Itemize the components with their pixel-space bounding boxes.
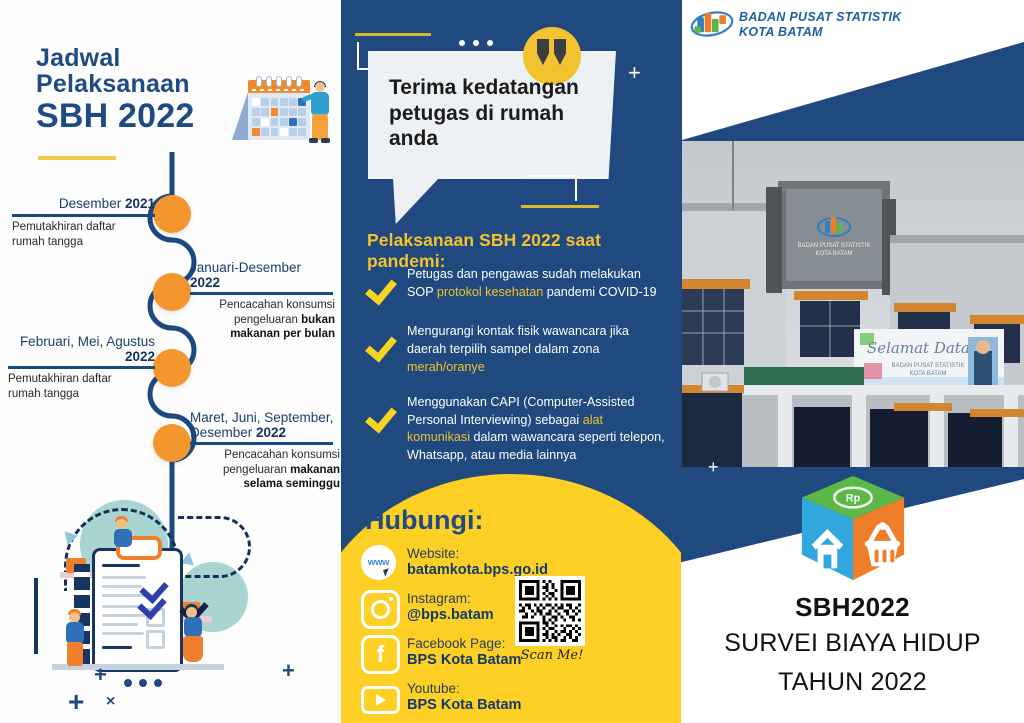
timeline-desc: Pemutakhiran daftar rumah tangga (8, 372, 155, 401)
timeline-rule (190, 292, 333, 295)
timeline-item-3: Februari, Mei, Agustus2022 Pemutakhiran … (8, 334, 155, 401)
svg-text:Rp: Rp (846, 493, 861, 505)
timeline-date: Februari, Mei, Agustus2022 (8, 334, 155, 364)
timeline-date-plain: Januari-Desember (190, 260, 301, 275)
timeline-rule (12, 214, 155, 217)
timeline-date-plain: Februari, Mei, Agustus (20, 334, 155, 349)
svg-text:BADAN PUSAT STATISTIK: BADAN PUSAT STATISTIK (798, 243, 871, 249)
contact-label: Youtube: (407, 681, 521, 697)
timeline-date-plain: Desember (59, 196, 125, 211)
qr-code-icon[interactable] (515, 576, 585, 646)
timeline-marker (153, 424, 191, 462)
timeline-marker (153, 273, 191, 311)
svg-text:KOTA BATAM: KOTA BATAM (815, 251, 852, 257)
contact-title: Hubungi: (365, 505, 483, 536)
timeline-date-year: 2021 (125, 196, 155, 211)
right-panel: BADAN PUSAT STATISTIK KOTA BATAM (681, 0, 1024, 723)
decorative-bar (34, 578, 38, 654)
contact-value: @bps.batam (407, 607, 494, 624)
calendar-icon (232, 68, 332, 148)
contact-label: Facebook Page: (407, 636, 521, 652)
timeline-date: Maret, Juni, September,Desember 2022 (190, 410, 340, 440)
calendar-person (308, 82, 334, 144)
bps-kota-batam-building-photo: BADAN PUSAT STATISTIK KOTA BATAM (682, 141, 1024, 467)
www-icon: www (361, 545, 396, 580)
paper-plane-icon (65, 529, 80, 545)
org-line-2: KOTA BATAM (739, 25, 902, 40)
contact-item-youtube[interactable]: Youtube: BPS Kota Batam (361, 680, 521, 715)
qr-caption: Scan Me! (519, 648, 585, 663)
calendar-ring (276, 76, 282, 87)
decorative-cross: × (106, 694, 115, 710)
timeline-marker (153, 195, 191, 233)
timeline-desc: Pencacahan konsumsi pengeluaran makanan … (190, 448, 340, 492)
title-line-3: SBH 2022 (36, 99, 194, 134)
decorative-plus: + (708, 458, 719, 476)
instagram-icon (361, 590, 396, 625)
timeline-date-plain: Maret, Juni, September, (190, 410, 333, 425)
org-line-1: BADAN PUSAT STATISTIK (739, 10, 902, 25)
decorative-dots (124, 674, 169, 692)
survey-year: TAHUN 2022 (681, 668, 1024, 697)
brochure-page: Jadwal Pelaksanaan SBH 2022 (0, 0, 1024, 723)
left-panel: Jadwal Pelaksanaan SBH 2022 (0, 0, 341, 723)
org-name: BADAN PUSAT STATISTIK KOTA BATAM (739, 10, 902, 39)
contact-section: Hubungi: www Website: batamkota.bps.go.i… (341, 0, 681, 723)
svg-text:BADAN PUSAT STATISTIK: BADAN PUSAT STATISTIK (892, 363, 965, 369)
calendar-ring (296, 76, 302, 87)
title-line-1: Jadwal (36, 45, 194, 71)
timeline-item-2: Januari-Desember2022 Pencacahan konsumsi… (190, 260, 335, 342)
page-title: Jadwal Pelaksanaan SBH 2022 (36, 45, 194, 134)
timeline-desc: Pemutakhiran daftar rumah tangga (12, 220, 155, 249)
title-underline (38, 156, 116, 160)
calendar-ring (286, 76, 292, 87)
timeline-date-year: 2022 (256, 425, 286, 440)
title-line-2: Pelaksanaan (36, 71, 194, 97)
contact-label: Instagram: (407, 591, 494, 607)
dashed-arc (178, 516, 251, 578)
sbh-cube-logo-icon: Rp (794, 472, 912, 590)
contact-label: Website: (407, 546, 548, 562)
timeline-date-year: 2022 (190, 275, 220, 290)
calendar-ring (266, 76, 272, 87)
decorative-plus: + (94, 664, 107, 686)
youtube-icon (361, 680, 396, 715)
timeline-item-4: Maret, Juni, September,Desember 2022 Pen… (190, 410, 340, 492)
facebook-icon: f (361, 635, 396, 670)
svg-text:KOTA BATAM: KOTA BATAM (909, 371, 946, 377)
contact-item-facebook[interactable]: f Facebook Page: BPS Kota Batam (361, 635, 521, 670)
timeline-date: Desember 2021 (12, 196, 155, 211)
timeline-date: Januari-Desember2022 (190, 260, 335, 290)
timeline-desc: Pencacahan konsumsi pengeluaran bukan ma… (190, 298, 335, 342)
timeline-rule (190, 442, 333, 445)
contact-item-instagram[interactable]: Instagram: @bps.batam (361, 590, 494, 625)
timeline-date-year: 2022 (125, 349, 155, 364)
timeline-rule (8, 366, 155, 369)
survey-checklist-illustration (30, 492, 270, 692)
contact-item-website[interactable]: www Website: batamkota.bps.go.id (361, 545, 548, 580)
survey-title: SURVEI BIAYA HIDUP (681, 629, 1024, 658)
decorative-plus: + (68, 688, 84, 716)
calendar-ring (256, 76, 262, 87)
contact-value: BPS Kota Batam (407, 652, 521, 669)
calendar-grid (252, 98, 306, 136)
decorative-plus: + (282, 660, 295, 682)
timeline-marker (153, 349, 191, 387)
contact-value: BPS Kota Batam (407, 697, 521, 714)
bps-logo-icon (690, 8, 734, 40)
sbh-title: SBH2022 (681, 592, 1024, 623)
timeline-item-1: Desember 2021 Pemutakhiran daftar rumah … (12, 196, 155, 249)
